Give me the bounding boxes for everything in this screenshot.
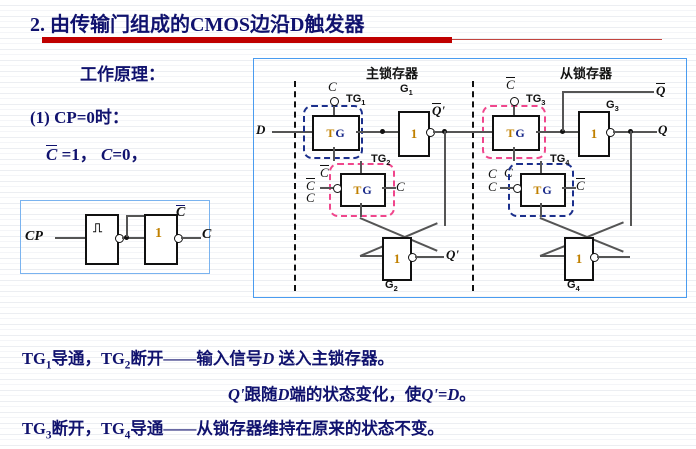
wire-tg4-left — [500, 187, 513, 189]
q-prime-label: Q' — [446, 247, 459, 263]
wire-g2-out — [415, 256, 444, 258]
tg2-label-t: T — [353, 183, 362, 198]
qbar-output-label: Q — [656, 83, 665, 99]
g4-name: G4 — [567, 279, 580, 293]
wire-tg2-left — [320, 187, 333, 189]
title-rule-red — [42, 37, 452, 43]
wire-to-tg3 — [468, 131, 492, 133]
qbar-prime-label: Q' — [432, 103, 445, 119]
g1-inverter[interactable]: 1 — [398, 111, 430, 157]
page-title: 2. 由传输门组成的CMOS边沿D触发器 — [30, 8, 364, 37]
tg3-top-bubble — [510, 97, 519, 106]
wire-qbar-up — [562, 91, 564, 131]
slave-latch-title: 从锁存器 — [560, 63, 612, 82]
tg3-label-g: G — [515, 126, 525, 141]
condition-label: (1) CP=0时： — [30, 103, 129, 128]
tg1-name: TTGG1 — [346, 93, 365, 107]
tg1-top-ctrl-label: C — [328, 79, 337, 95]
c-bar-value: =1， — [62, 145, 97, 164]
tg1-bottom-ctrl-label: C — [320, 165, 329, 181]
wire-qbarprime-down — [444, 131, 446, 226]
tg4-block[interactable]: TG — [520, 173, 566, 207]
stmt1-tg1: TG — [22, 349, 46, 368]
diagram-canvas: 主锁存器 从锁存器 D TG C C TTGG1 G1 1 — [254, 59, 686, 297]
d-flipflop-diagram: 主锁存器 从锁存器 D TG C C TTGG1 G1 1 — [253, 58, 687, 298]
c-symbol: C — [101, 145, 112, 164]
tg2-label-g: G — [362, 183, 372, 198]
g1-symbol: 1 — [411, 126, 418, 142]
divider-left — [294, 81, 296, 291]
wire-tg2-top — [360, 161, 362, 173]
tg2-right-ctrl-label: C — [396, 179, 405, 195]
wire-to-g1 — [390, 131, 398, 133]
schmitt-trigger-block: ⎍ — [85, 214, 119, 265]
c-value: =0， — [112, 145, 147, 164]
stmt2-b: 跟随 — [245, 385, 278, 404]
cp-inverter-symbol: 1 — [155, 226, 162, 242]
wire-node-up — [126, 215, 128, 237]
wire-tg1-bottom — [333, 147, 335, 161]
tg1-label-t: T — [326, 126, 335, 141]
tg1-label-g: G — [335, 126, 345, 141]
wire-g1-out — [433, 131, 468, 133]
wire-tg4-top — [540, 161, 542, 173]
statement-line-1: TG1导通，TG2断开——输入信号D 送入主锁存器。 — [22, 345, 394, 371]
cp-c-output-label: C — [184, 227, 211, 243]
tg1-block[interactable]: TG — [312, 115, 360, 151]
d-input-label: D — [256, 122, 265, 138]
tg4-upper-ctrl-label: C — [488, 166, 497, 182]
q-output-label: Q — [658, 122, 667, 138]
tg3-name: TG3 — [526, 93, 545, 107]
tg4-label-t: T — [533, 183, 542, 198]
stmt1-d-signal: D — [262, 349, 274, 368]
cp-input-label: CP — [25, 229, 43, 245]
c-values-line: C =1， C=0， — [46, 140, 148, 165]
cp-circuit-box: CP ⎍ C 1 C — [20, 200, 210, 274]
stmt1-f: 送入主锁存器。 — [274, 349, 394, 368]
tg3-top-ctrl-label: C — [506, 77, 515, 93]
tg4-label-g: G — [542, 183, 552, 198]
slide-page: 2. 由传输门组成的CMOS边沿D触发器 工作原理： (1) CP=0时： C … — [0, 0, 696, 449]
stmt2-d: 端的状态变化，使 — [289, 385, 421, 404]
wire-qbar-right — [562, 91, 654, 93]
wire-to-g3 — [570, 131, 578, 133]
g2-name: G2 — [385, 279, 398, 293]
tg1-top-bubble — [330, 97, 339, 106]
stmt3-d: 导通——从锁存器维持在原来的状态不变。 — [130, 419, 444, 438]
wire-tg2-right — [382, 187, 396, 189]
stmt3-tg3: TG — [22, 419, 46, 438]
tg4-right-ctrl-label: C — [576, 178, 585, 194]
tg4-left-bubble — [513, 184, 522, 193]
tg2-left-ctrl-label-2: C — [306, 190, 315, 206]
wire-cp-in — [55, 237, 85, 239]
g3-inverter[interactable]: 1 — [578, 111, 610, 157]
statement-line-2: Q'跟随D端的状态变化，使Q'=D。 — [228, 381, 476, 405]
schmitt-symbol: ⎍ — [93, 220, 102, 236]
tg2-name: TG2 — [371, 153, 390, 167]
stmt2-f: 。 — [459, 385, 476, 404]
stmt3-b: 断开， — [51, 419, 101, 438]
stmt3-tg4: TG — [101, 419, 125, 438]
title-underline — [42, 37, 662, 43]
tg2-block[interactable]: TG — [340, 173, 386, 207]
tg4-name: TG4 — [550, 153, 569, 167]
wire-g3-out — [613, 131, 657, 133]
master-latch-title: 主锁存器 — [366, 63, 418, 82]
tg2-left-bubble — [333, 184, 342, 193]
g1-name: G1 — [400, 83, 413, 97]
tg3-block[interactable]: TG — [492, 115, 540, 151]
title-block: 2. 由传输门组成的CMOS边沿D触发器 — [30, 8, 364, 37]
wire-into-g4 — [540, 255, 564, 257]
c-bar-symbol: C — [46, 145, 57, 163]
wire-g4-out — [597, 256, 630, 258]
g4-symbol: 1 — [576, 251, 583, 267]
stmt2-qprime: Q' — [228, 385, 245, 404]
wire-tg4-right — [562, 187, 576, 189]
wire-tg3-bottom — [513, 147, 515, 161]
wire-tg2-bottom — [360, 203, 362, 217]
stmt1-d: 断开——输入信号 — [130, 349, 262, 368]
wire-tg4-bottom — [540, 203, 542, 217]
principle-label: 工作原理： — [80, 60, 165, 85]
divider-middle — [472, 81, 474, 291]
statement-line-3: TG3断开，TG4导通——从锁存器维持在原来的状态不变。 — [22, 415, 444, 441]
tg3-label-t: T — [506, 126, 515, 141]
node-master-a — [380, 129, 385, 134]
cp-inverter-block: 1 — [144, 214, 178, 265]
g3-symbol: 1 — [591, 126, 598, 142]
stmt2-d-signal: D — [278, 385, 290, 404]
stmt1-b: 导通， — [51, 349, 101, 368]
g2-symbol: 1 — [394, 251, 401, 267]
stmt1-tg2: TG — [101, 349, 125, 368]
wire-into-g2 — [360, 255, 382, 257]
wire-q-down — [630, 131, 632, 226]
stmt2-eq: Q'=D — [421, 385, 459, 404]
